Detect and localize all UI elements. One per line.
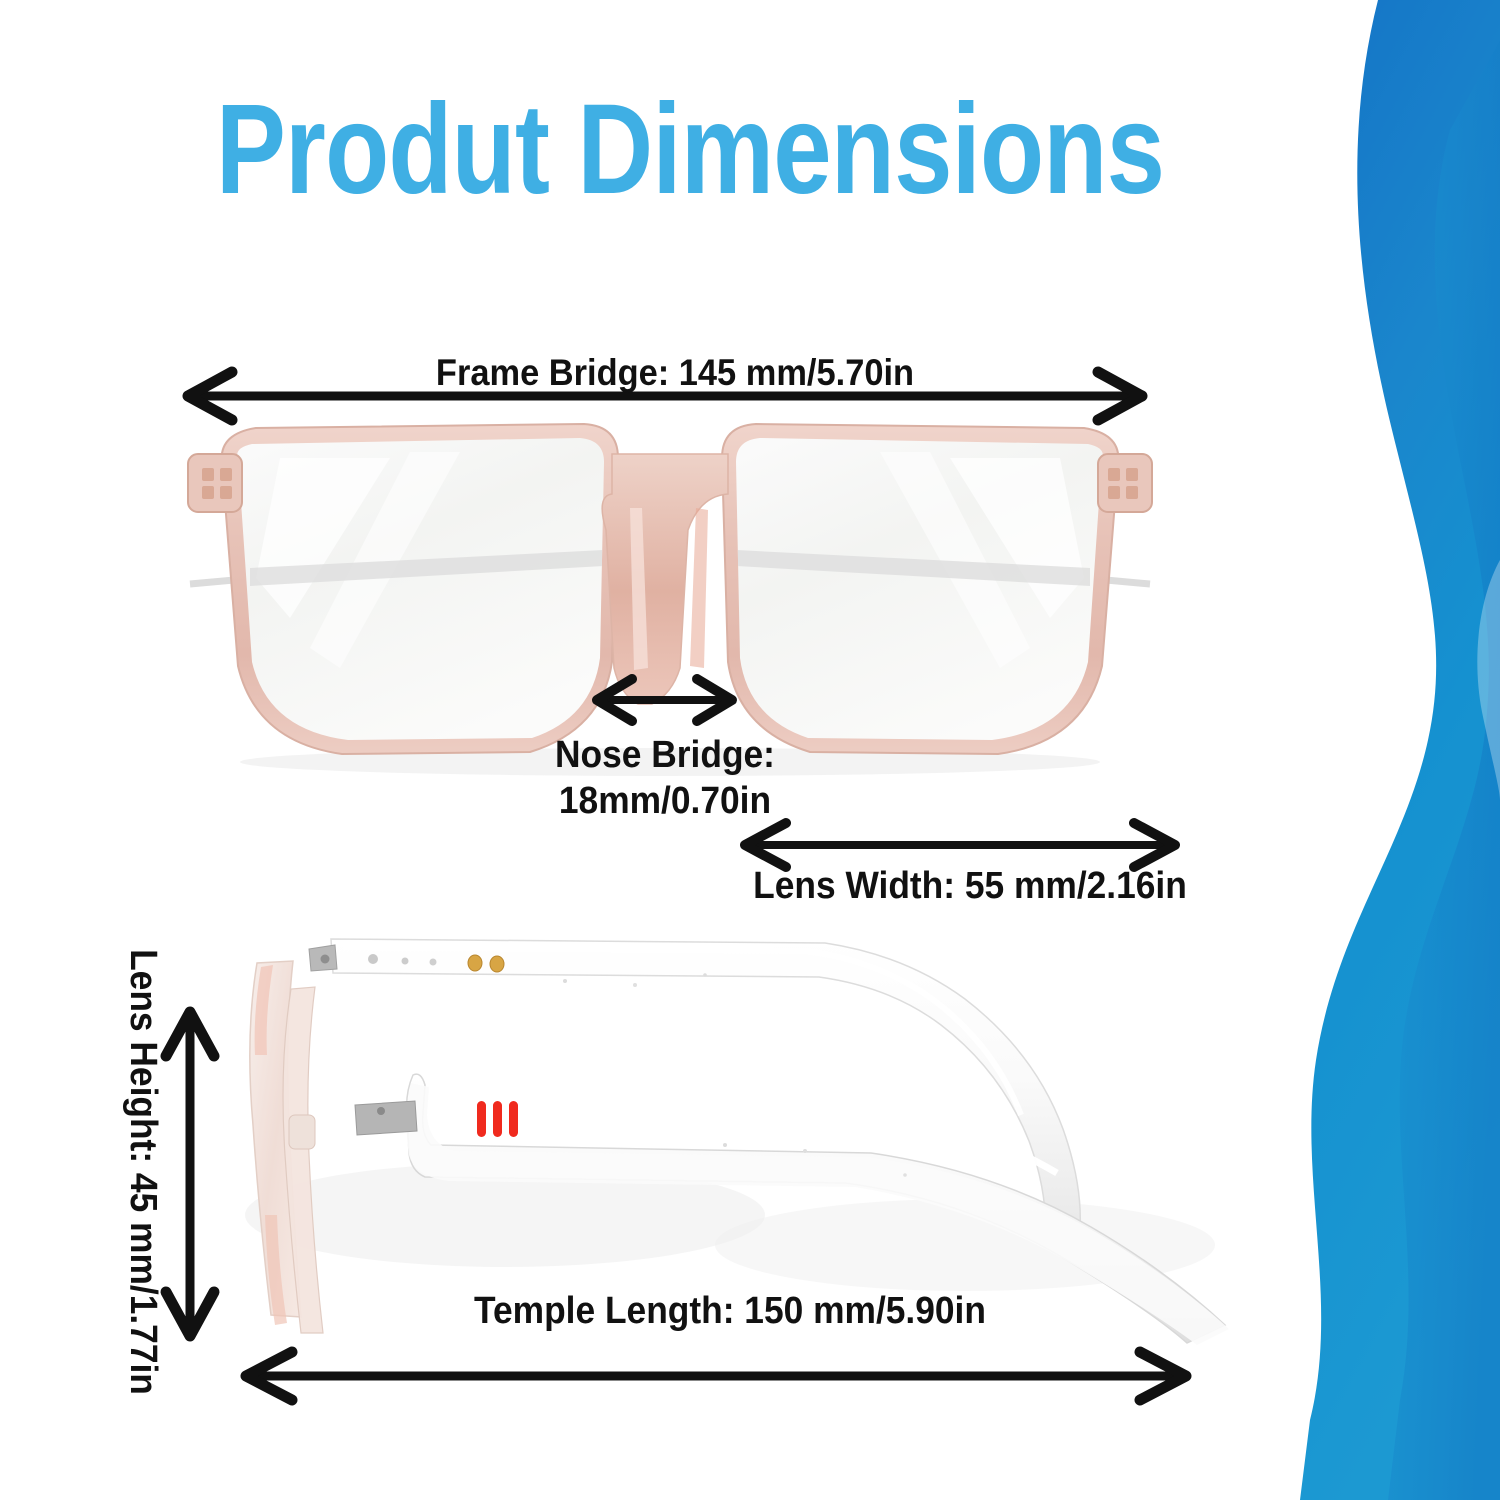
clear-frame-profile — [250, 961, 323, 1333]
lens-width-label: Lens Width: 55 mm/2.16in — [719, 865, 1221, 908]
left-hinge — [188, 454, 242, 512]
wave-band-primary — [1300, 0, 1500, 1500]
nose-bridge-label: Nose Bridge: 18mm/0.70in — [446, 732, 883, 824]
product-front-view-image — [160, 418, 1180, 783]
temple-length-label: Temple Length: 150 mm/5.90in — [284, 1290, 1177, 1333]
temple-length-arrow — [230, 1350, 1210, 1402]
page-title: Produt Dimensions — [124, 86, 1256, 214]
indicator-dot — [368, 954, 378, 964]
glasses-side-svg — [205, 915, 1235, 1345]
product-dimensions-infographic: Produt Dimensions — [0, 0, 1500, 1500]
indicator-dot — [402, 958, 409, 965]
charging-contact — [468, 955, 482, 971]
nose-bridge-piece — [602, 454, 728, 704]
frame-bridge-label: Frame Bridge: 145 mm/5.70in — [47, 352, 1303, 394]
lens-height-label: Lens Height: 45 mm/1.77in — [121, 921, 165, 1423]
product-side-view-image — [205, 915, 1235, 1345]
nose-bridge-label-line2: 18mm/0.70in — [446, 778, 883, 824]
wave-sliver-highlight — [1477, 560, 1500, 800]
wave-band-highlight — [1388, 40, 1500, 1500]
indicator-dot — [430, 959, 437, 966]
charging-contact — [490, 956, 504, 972]
decorative-wave-graphic — [1300, 0, 1500, 1500]
speaker-grille — [477, 1101, 518, 1137]
bridge-shade — [690, 508, 708, 668]
nose-bridge-label-line1: Nose Bridge: — [446, 732, 883, 778]
lens-width-arrow — [730, 820, 1190, 870]
glasses-front-svg — [160, 418, 1180, 783]
right-hinge — [1098, 454, 1152, 512]
hinge-metal-lower — [355, 1101, 417, 1135]
